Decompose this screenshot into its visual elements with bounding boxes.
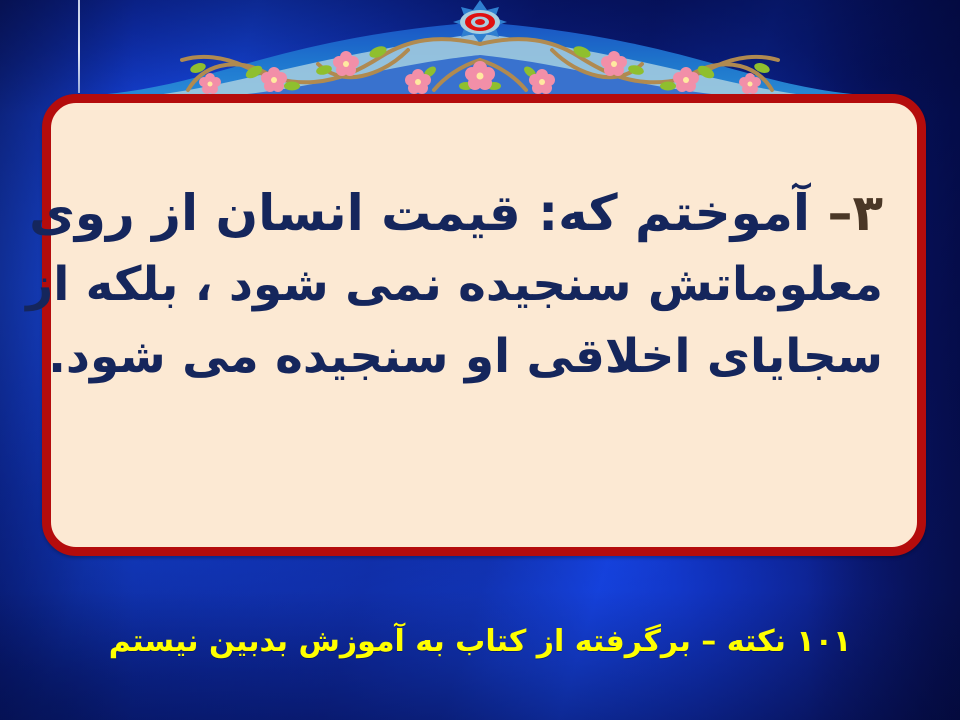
footer-attribution: ۱۰۱ نکته – برگرفته از کتاب به آموزش بدبی…	[109, 622, 852, 662]
content-line-1-text: آموختم که: قیمت انسان از روی	[29, 184, 827, 242]
item-number: ۳	[852, 184, 883, 242]
item-dash: –	[827, 184, 852, 242]
content-line-3: سجایای اخلاقی او سنجیده می شود.	[85, 321, 883, 393]
slide-canvas: ۳– آموختم که: قیمت انسان از روی معلوماتش…	[0, 0, 960, 720]
content-line-1: ۳– آموختم که: قیمت انسان از روی	[85, 177, 883, 249]
content-line-2: معلوماتش سنجیده نمی شود ، بلکه از	[85, 249, 883, 321]
persian-floral-header-ornament	[78, 0, 882, 97]
content-card-body: ۳– آموختم که: قیمت انسان از روی معلوماتش…	[51, 177, 917, 393]
content-card: ۳– آموختم که: قیمت انسان از روی معلوماتش…	[42, 94, 926, 556]
slide-footer: ۱۰۱ نکته – برگرفته از کتاب به آموزش بدبی…	[0, 622, 960, 662]
